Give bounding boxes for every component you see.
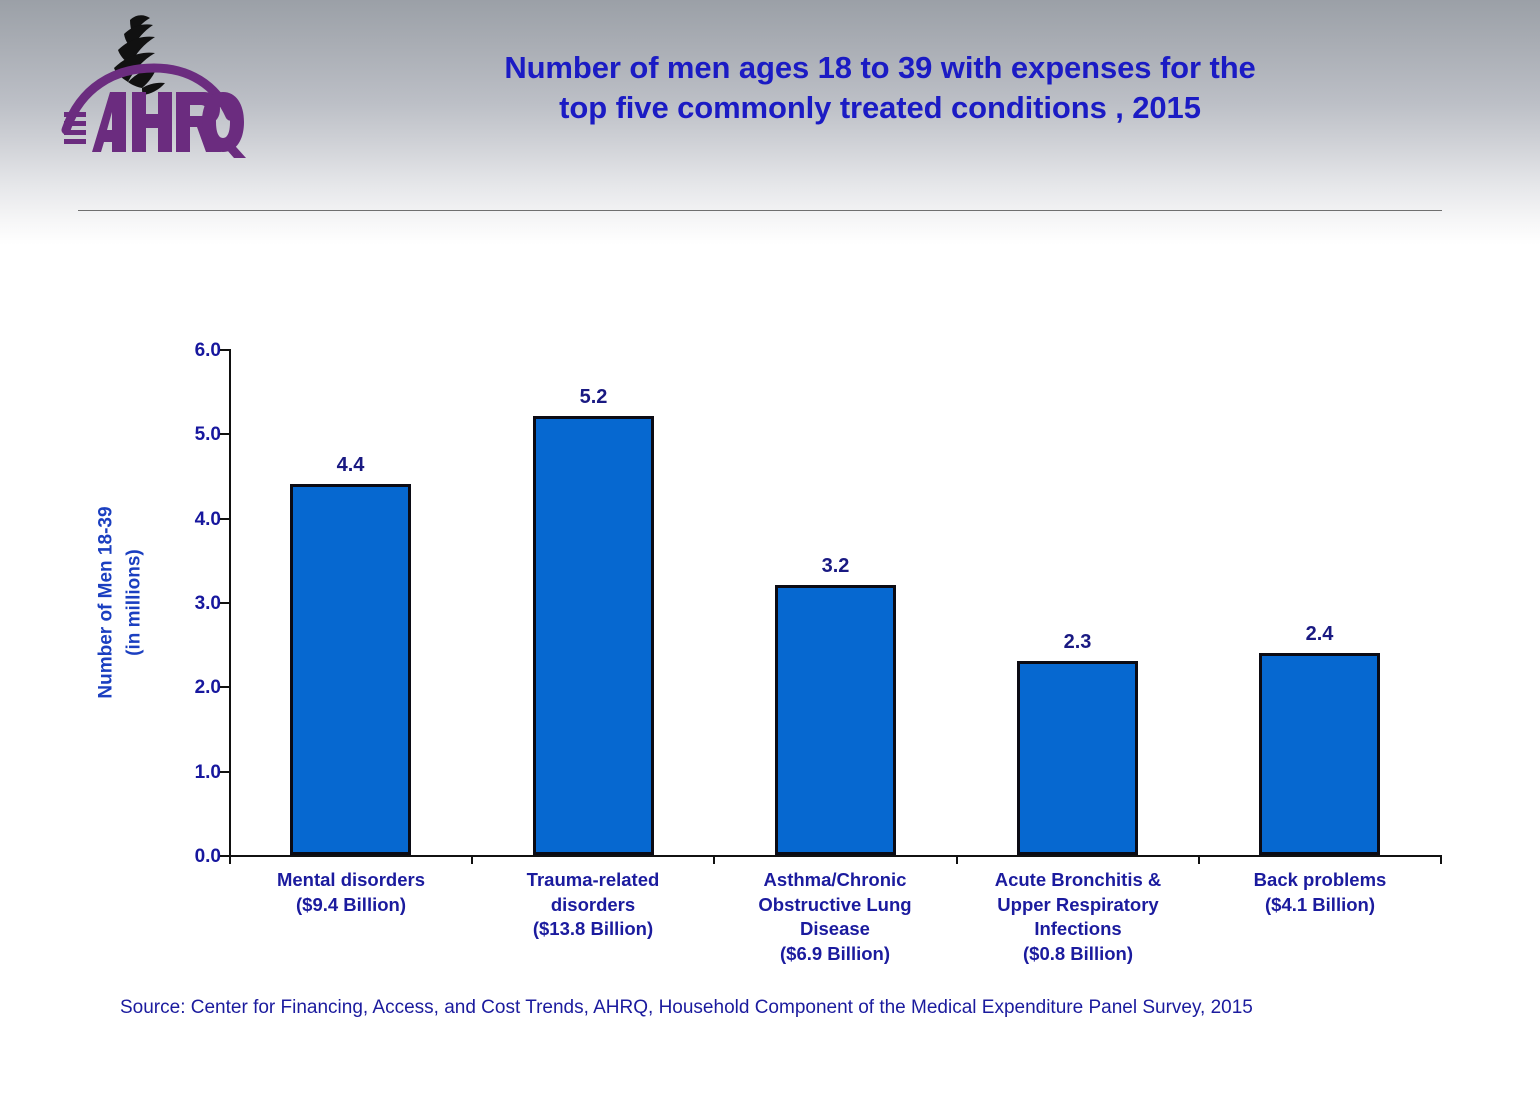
bar-value-asthma-copd: 3.2 [775, 556, 896, 576]
x-category-label-asthma-copd: Asthma/Chronic Obstructive Lung Disease … [714, 868, 956, 966]
y-tick-label-6: 6.0 [151, 341, 221, 360]
bar-trauma-related[interactable] [533, 416, 654, 855]
y-tick-label-5: 5.0 [151, 425, 221, 444]
y-tick-label-4: 4.0 [151, 510, 221, 529]
bar-back-problems[interactable] [1259, 653, 1380, 855]
y-tick-label-0: 0.0 [151, 847, 221, 866]
x-category-label-mental-disorders: Mental disorders ($9.4 Billion) [230, 868, 472, 917]
bar-value-trauma-related: 5.2 [533, 387, 654, 407]
y-axis-line [229, 349, 231, 856]
bar-acute-bronchitis[interactable] [1017, 661, 1138, 855]
x-tick-mark-4 [1198, 855, 1200, 864]
bar-value-back-problems: 2.4 [1259, 624, 1380, 644]
y-tick-label-2: 2.0 [151, 678, 221, 697]
y-tick-mark-3 [220, 602, 229, 604]
x-axis-line [229, 855, 1441, 857]
y-tick-mark-5 [220, 433, 229, 435]
x-tick-mark-1 [471, 855, 473, 864]
y-tick-label-1: 1.0 [151, 763, 221, 782]
bar-asthma-copd[interactable] [775, 585, 896, 855]
y-tick-label-3: 3.0 [151, 594, 221, 613]
y-tick-mark-4 [220, 518, 229, 520]
y-tick-mark-1 [220, 771, 229, 773]
x-category-label-acute-bronchitis: Acute Bronchitis & Upper Respiratory Inf… [957, 868, 1199, 966]
x-category-label-back-problems: Back problems ($4.1 Billion) [1199, 868, 1441, 917]
bar-chart: Number of Men 18-39 (in millions) 6.0 5.… [0, 0, 1540, 1118]
x-tick-mark-5 [1440, 855, 1442, 864]
x-category-label-trauma-related: Trauma-related disorders ($13.8 Billion) [472, 868, 714, 942]
source-note: Source: Center for Financing, Access, an… [120, 997, 1253, 1019]
y-tick-mark-6 [220, 349, 229, 351]
y-tick-mark-0 [220, 855, 229, 857]
x-tick-mark-2 [713, 855, 715, 864]
bar-value-acute-bronchitis: 2.3 [1017, 632, 1138, 652]
x-tick-mark-3 [956, 855, 958, 864]
x-tick-mark-0 [229, 855, 231, 864]
y-tick-mark-2 [220, 686, 229, 688]
y-axis-title: Number of Men 18-39 (in millions) [92, 443, 147, 763]
bar-mental-disorders[interactable] [290, 484, 411, 855]
bar-value-mental-disorders: 4.4 [290, 455, 411, 475]
